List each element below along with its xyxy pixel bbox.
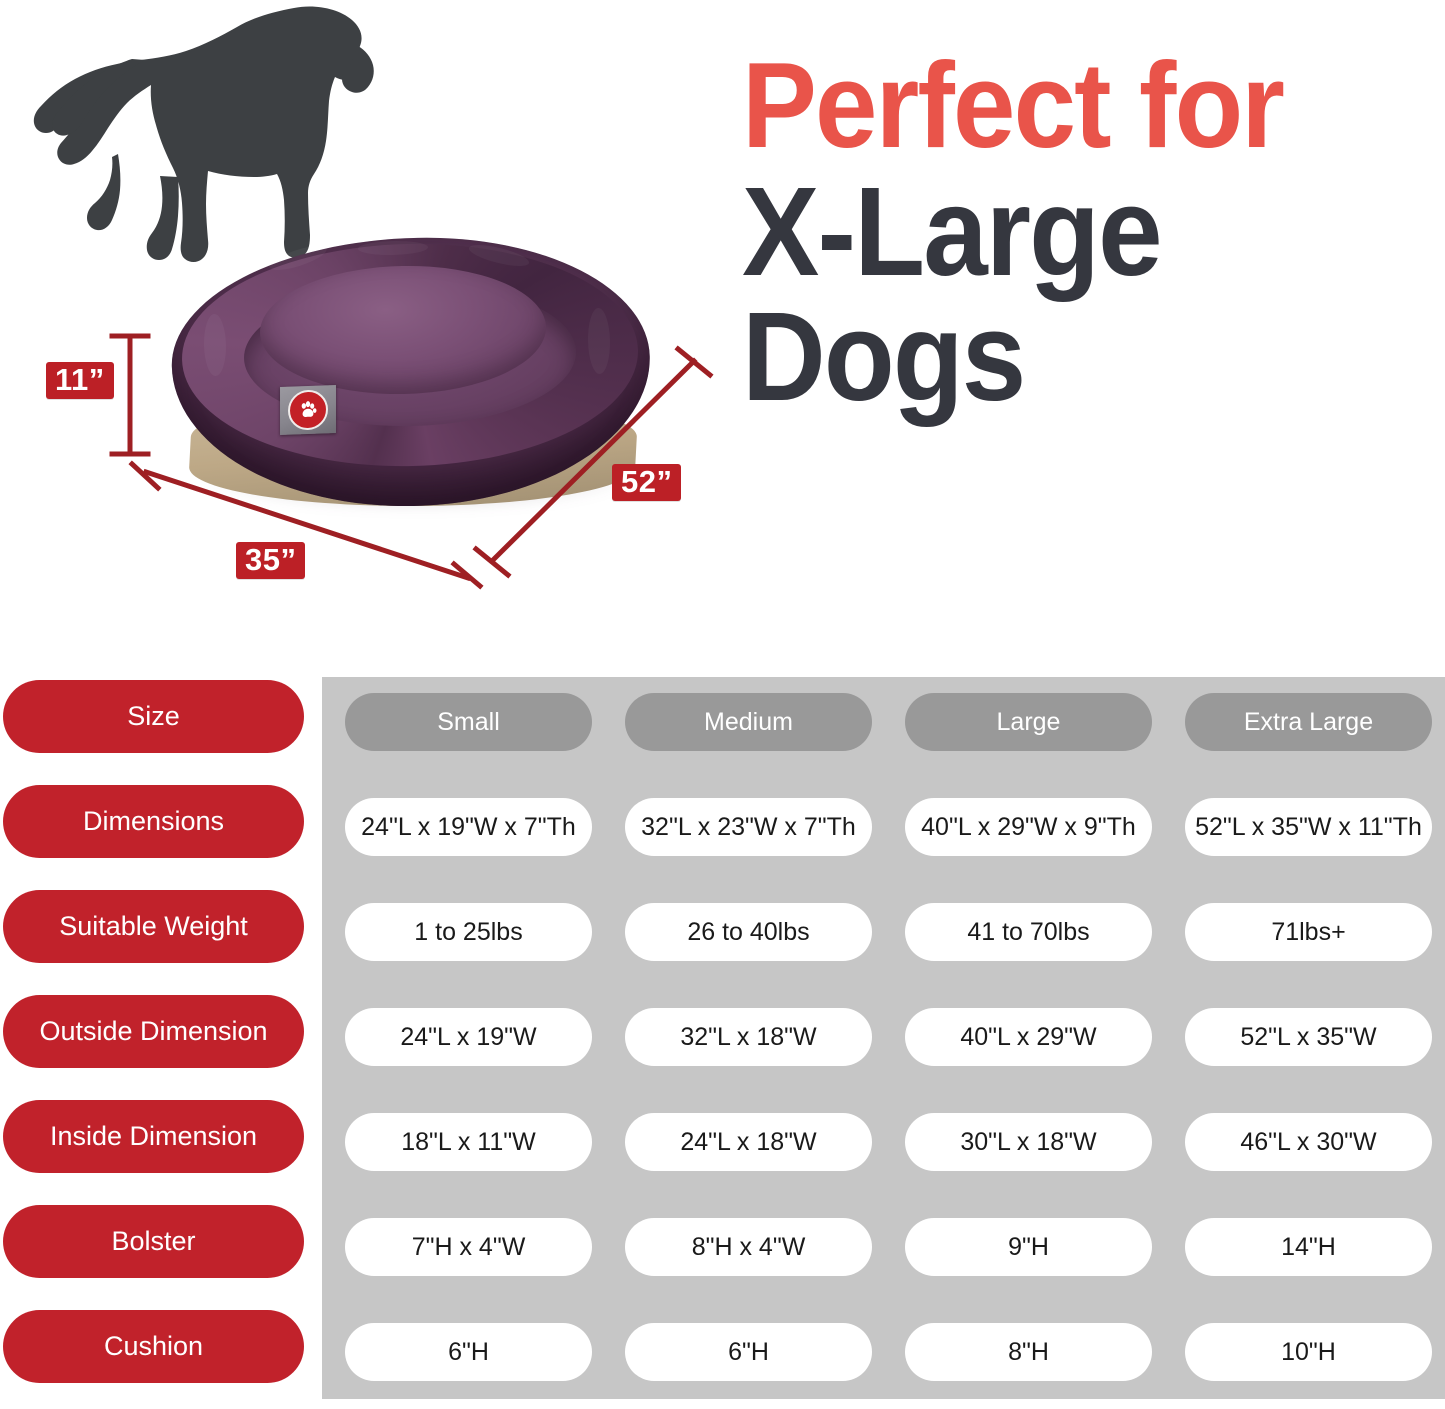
brand-tag	[280, 385, 336, 435]
row-label-inside-dimension: Inside Dimension	[3, 1100, 304, 1173]
height-dimension-line	[110, 330, 170, 460]
cell-dimensions-small: 24"L x 19"W x 7"Th	[345, 798, 592, 856]
cell-bolster-medium: 8"H x 4"W	[625, 1218, 872, 1276]
cell-dimensions-extra-large: 52"L x 35"W x 11"Th	[1185, 798, 1432, 856]
cell-bolster-large: 9"H	[905, 1218, 1152, 1276]
row-label-dimensions: Dimensions	[3, 785, 304, 858]
cell-inside-dimension-large: 30"L x 18"W	[905, 1113, 1152, 1171]
cell-inside-dimension-medium: 24"L x 18"W	[625, 1113, 872, 1171]
specification-table: SmallMediumLargeExtra Large24"L x 19"W x…	[0, 672, 1445, 1402]
column-header-extra-large: Extra Large	[1185, 693, 1432, 751]
dimension-badge-width: 35”	[236, 542, 305, 579]
cell-suitable-weight-medium: 26 to 40lbs	[625, 903, 872, 961]
cell-outside-dimension-medium: 32"L x 18"W	[625, 1008, 872, 1066]
cell-bolster-small: 7"H x 4"W	[345, 1218, 592, 1276]
row-label-outside-dimension: Outside Dimension	[3, 995, 304, 1068]
headline-line-1: Perfect for	[742, 46, 1386, 166]
cell-bolster-extra-large: 14"H	[1185, 1218, 1432, 1276]
column-header-medium: Medium	[625, 693, 872, 751]
cell-suitable-weight-extra-large: 71lbs+	[1185, 903, 1432, 961]
headline-line-3: Dogs	[742, 295, 1386, 418]
row-label-cushion: Cushion	[3, 1310, 304, 1383]
cell-cushion-medium: 6"H	[625, 1323, 872, 1381]
row-label-bolster: Bolster	[3, 1205, 304, 1278]
cell-outside-dimension-large: 40"L x 29"W	[905, 1008, 1152, 1066]
cell-suitable-weight-large: 41 to 70lbs	[905, 903, 1152, 961]
cell-cushion-small: 6"H	[345, 1323, 592, 1381]
column-header-large: Large	[905, 693, 1152, 751]
brand-logo-circle	[288, 389, 328, 430]
cell-dimensions-large: 40"L x 29"W x 9"Th	[905, 798, 1152, 856]
row-label-size: Size	[3, 680, 304, 753]
column-header-small: Small	[345, 693, 592, 751]
dimension-badge-height: 11”	[46, 362, 114, 399]
cell-cushion-extra-large: 10"H	[1185, 1323, 1432, 1381]
cell-cushion-large: 8"H	[905, 1323, 1152, 1381]
table-gray-panel: SmallMediumLargeExtra Large24"L x 19"W x…	[322, 677, 1445, 1399]
cell-outside-dimension-extra-large: 52"L x 35"W	[1185, 1008, 1432, 1066]
cell-inside-dimension-extra-large: 46"L x 30"W	[1185, 1113, 1432, 1171]
hero-section: 11” 35” 52” Perfect for X-Large Dogs	[0, 0, 1445, 660]
headline-line-2: X-Large	[742, 170, 1386, 293]
headline-block: Perfect for X-Large Dogs	[742, 46, 1442, 418]
row-label-suitable-weight: Suitable Weight	[3, 890, 304, 963]
width-dimension-line	[128, 460, 498, 590]
row-label-column: SizeDimensionsSuitable WeightOutside Dim…	[0, 672, 310, 1394]
cell-inside-dimension-small: 18"L x 11"W	[345, 1113, 592, 1171]
cell-dimensions-medium: 32"L x 23"W x 7"Th	[625, 798, 872, 856]
cell-outside-dimension-small: 24"L x 19"W	[345, 1008, 592, 1066]
length-dimension-line	[470, 345, 730, 585]
cell-suitable-weight-small: 1 to 25lbs	[345, 903, 592, 961]
dimension-badge-length: 52”	[612, 464, 681, 501]
paw-print-icon	[298, 400, 318, 421]
